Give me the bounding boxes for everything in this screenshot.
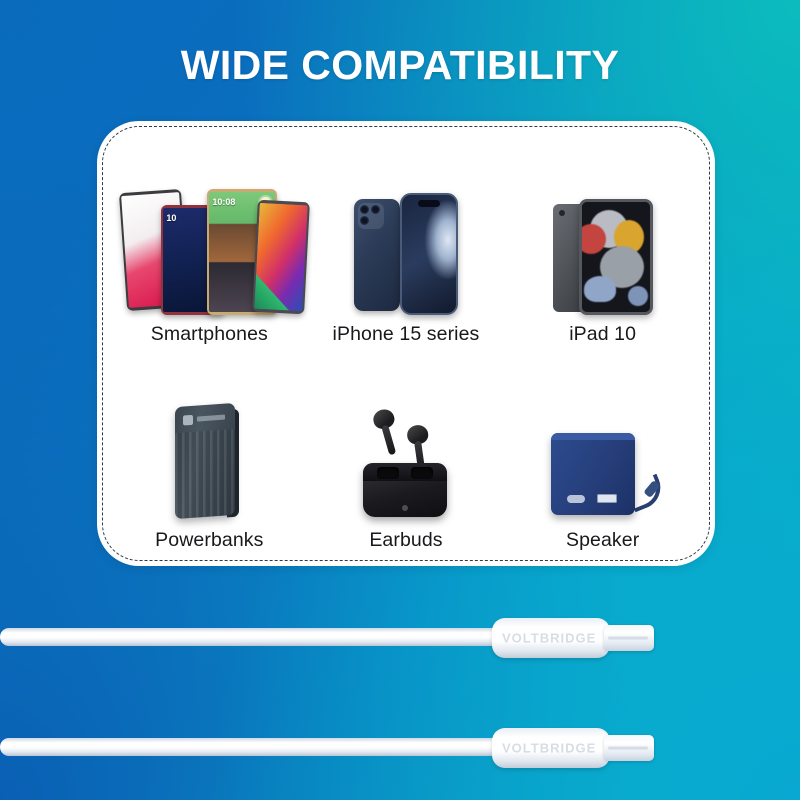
device-item-earbuds: Earbuds — [308, 346, 505, 553]
dynamic-island-icon — [418, 200, 440, 207]
powerbank-logo-badge — [183, 415, 193, 426]
iphone-back-panel — [354, 199, 400, 311]
powerbank-brand-mark — [197, 415, 225, 422]
page-title: WIDE COMPATIBILITY — [0, 42, 800, 89]
usb-c-cable-bottom: VOLTBRIDGE — [0, 722, 800, 768]
speaker-power-button — [567, 495, 585, 503]
powerbank-icon — [161, 391, 257, 521]
ipad-front-panel — [579, 199, 653, 315]
earbuds-case-icon — [351, 391, 461, 521]
powerbank-ribbed-texture — [175, 429, 235, 519]
iphone-front-panel — [400, 193, 458, 315]
usb-c-connector-housing: VOLTBRIDGE — [492, 618, 610, 658]
usb-c-connector-tip — [604, 735, 654, 761]
device-label-ipad: iPad 10 — [569, 323, 636, 346]
usb-c-connector-tip — [604, 625, 654, 651]
device-grid: 10 10:08 Smartphones — [97, 121, 715, 566]
cable-cord — [0, 738, 520, 756]
connector-brand-text: VOLTBRIDGE — [502, 741, 596, 756]
device-label-powerbank: Powerbanks — [155, 529, 263, 552]
iphone-15-pro-icon — [354, 185, 458, 315]
camera-lens-icon — [559, 210, 565, 216]
ipad-10-icon — [553, 185, 653, 315]
speaker-plug-icon — [643, 480, 660, 498]
speaker-usb-port — [597, 494, 617, 503]
usb-c-cable-top: VOLTBRIDGE — [0, 612, 800, 658]
phone-weather-time: 10:08 — [212, 197, 235, 207]
charging-case-icon — [363, 463, 447, 517]
connector-brand-text: VOLTBRIDGE — [502, 631, 596, 646]
earbud-left-icon — [371, 407, 404, 457]
device-item-powerbank: Powerbanks — [111, 346, 308, 553]
device-label-earbuds: Earbuds — [369, 529, 442, 552]
powerbank-body — [175, 403, 235, 519]
cable-cord — [0, 628, 520, 646]
speaker-body — [551, 433, 635, 515]
phone-galaxy-icon — [252, 199, 310, 314]
device-item-iphone: iPhone 15 series — [308, 139, 505, 346]
usb-c-connector-housing: VOLTBRIDGE — [492, 728, 610, 768]
smartphones-cluster-icon: 10 10:08 — [119, 185, 299, 315]
case-led-indicator — [402, 505, 408, 511]
bluetooth-speaker-icon — [543, 391, 663, 521]
phone-badge-label: 10 — [166, 213, 176, 223]
compatibility-card: 10 10:08 Smartphones — [97, 121, 715, 566]
camera-module-icon — [358, 203, 384, 229]
device-label-speaker: Speaker — [566, 529, 639, 552]
device-label-smartphones: Smartphones — [151, 323, 268, 346]
device-item-ipad: iPad 10 — [504, 139, 701, 346]
device-item-smartphones: 10 10:08 Smartphones — [111, 139, 308, 346]
device-item-speaker: Speaker — [504, 346, 701, 553]
device-label-iphone: iPhone 15 series — [333, 323, 480, 346]
